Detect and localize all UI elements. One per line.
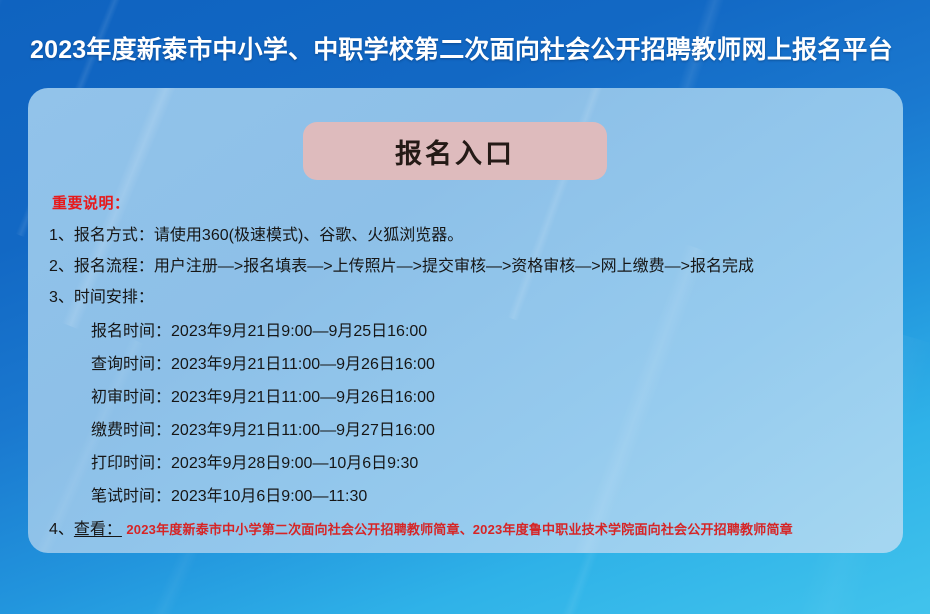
announcement-link-primary-secondary-school[interactable]: 2023年度新泰市中小学第二次面向社会公开招聘教师简章 [126,522,459,537]
schedule-row-registration: 报名时间：2023年9月21日9:00—9月25日16:00 [49,315,899,348]
schedule-row-payment: 缴费时间：2023年9月21日11:00—9月27日16:00 [49,414,899,447]
important-notice-block: 重要说明： 1、报名方式：请使用360(极速模式)、谷歌、火狐浏览器。 2、报名… [49,192,899,545]
notice-heading: 重要说明： [52,192,899,213]
registration-entry-button-label: 报名入口 [395,132,515,171]
schedule-label: 报名时间： [91,323,171,340]
notice-item-number: 3、 [49,282,74,313]
schedule-label: 缴费时间： [91,422,171,439]
notice-item-view-documents: 4、查看： 2023年度新泰市中小学第二次面向社会公开招聘教师简章、2023年度… [49,514,899,545]
schedule-row-written-exam: 笔试时间：2023年10月6日9:00—11:30 [49,480,899,513]
schedule-value: 2023年9月21日11:00—9月26日16:00 [171,356,435,373]
page-title: 2023年度新泰市中小学、中职学校第二次面向社会公开招聘教师网上报名平台 [30,30,910,66]
schedule-label: 查询时间： [91,356,171,373]
link-separator: 、 [460,522,473,537]
notice-item-registration-method: 1、报名方式：请使用360(极速模式)、谷歌、火狐浏览器。 [49,220,899,251]
schedule-list: 报名时间：2023年9月21日9:00—9月25日16:00 查询时间：2023… [49,315,899,513]
notice-item-value: 用户注册—>报名填表—>上传照片—>提交审核—>资格审核—>网上缴费—>报名完成 [154,258,754,275]
notice-item-label: 报名流程： [74,258,154,275]
schedule-row-query: 查询时间：2023年9月21日11:00—9月26日16:00 [49,348,899,381]
notice-item-label: 查看： [74,521,122,538]
schedule-label: 初审时间： [91,389,171,406]
notice-item-time-schedule: 3、时间安排： [49,282,899,313]
schedule-label: 打印时间： [91,455,171,472]
schedule-value: 2023年9月21日11:00—9月26日16:00 [171,389,435,406]
notice-item-label: 报名方式： [74,227,154,244]
schedule-value: 2023年9月28日9:00—10月6日9:30 [171,455,418,472]
notice-item-number: 2、 [49,251,74,282]
notice-item-number: 1、 [49,220,74,251]
schedule-value: 2023年9月21日11:00—9月27日16:00 [171,422,435,439]
notice-item-value: 请使用360(极速模式)、谷歌、火狐浏览器。 [154,227,463,244]
content-panel: 报名入口 重要说明： 1、报名方式：请使用360(极速模式)、谷歌、火狐浏览器。… [28,88,903,553]
schedule-value: 2023年9月21日9:00—9月25日16:00 [171,323,427,340]
registration-entry-button[interactable]: 报名入口 [303,122,607,180]
schedule-label: 笔试时间： [91,488,171,505]
notice-item-label: 时间安排： [74,289,154,306]
schedule-row-printing: 打印时间：2023年9月28日9:00—10月6日9:30 [49,447,899,480]
notice-item-number: 4、 [49,521,74,538]
announcement-link-vocational-college[interactable]: 2023年度鲁中职业技术学院面向社会公开招聘教师简章 [473,522,793,537]
notice-item-registration-flow: 2、报名流程：用户注册—>报名填表—>上传照片—>提交审核—>资格审核—>网上缴… [49,251,899,282]
page-root: 2023年度新泰市中小学、中职学校第二次面向社会公开招聘教师网上报名平台 报名入… [0,0,930,614]
schedule-value: 2023年10月6日9:00—11:30 [171,488,367,505]
schedule-row-preliminary-review: 初审时间：2023年9月21日11:00—9月26日16:00 [49,381,899,414]
